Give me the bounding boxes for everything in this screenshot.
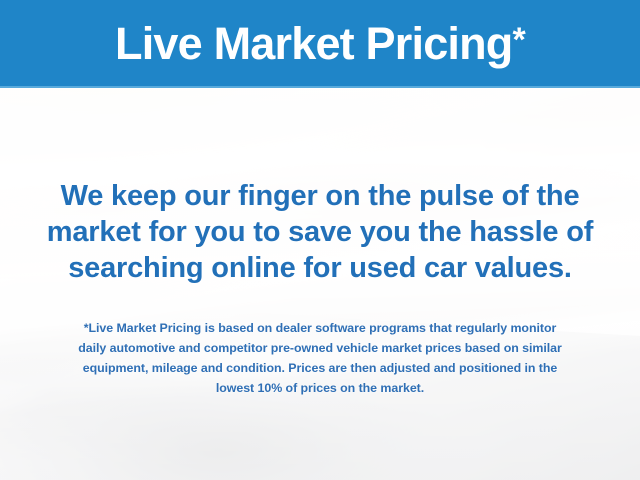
fineprint-line-1: *Live Market Pricing is based on dealer … [18, 318, 622, 338]
disclaimer-fineprint: *Live Market Pricing is based on dealer … [0, 318, 640, 398]
fineprint-line-2: daily automotive and competitor pre-owne… [18, 338, 622, 358]
headline-line-3: searching online for used car values. [22, 250, 618, 286]
live-market-pricing-banner: Live Market Pricing* We keep our finger … [0, 0, 640, 480]
page-title-text: Live Market Pricing [115, 18, 512, 69]
headline: We keep our finger on the pulse of the m… [0, 178, 640, 286]
header-band: Live Market Pricing* [0, 0, 640, 88]
headline-line-2: market for you to save you the hassle of [22, 214, 618, 250]
headline-line-1: We keep our finger on the pulse of the [22, 178, 618, 214]
page-title: Live Market Pricing* [115, 21, 525, 68]
fineprint-line-4: lowest 10% of prices on the market. [18, 378, 622, 398]
fineprint-line-3: equipment, mileage and condition. Prices… [18, 358, 622, 378]
page-title-asterisk: * [513, 21, 525, 59]
